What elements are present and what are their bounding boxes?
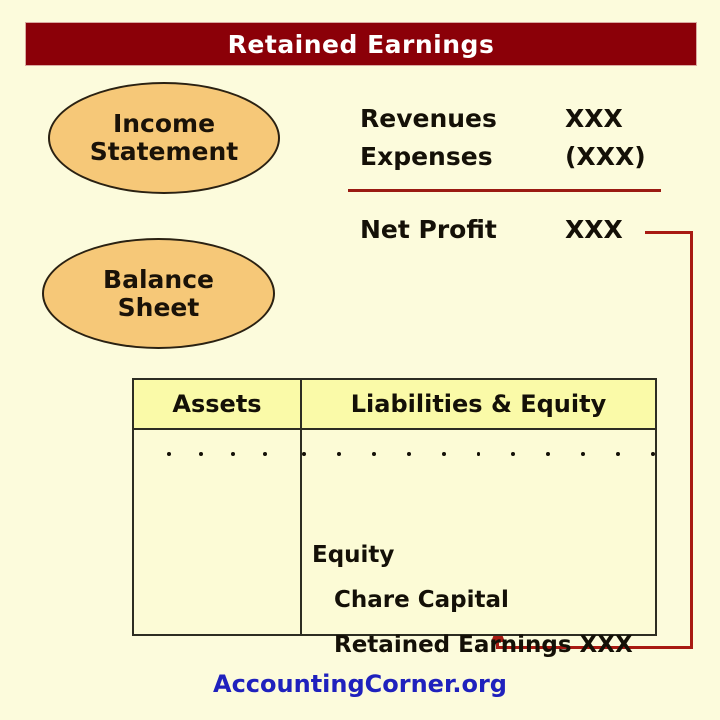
assets-placeholder-dots (134, 452, 300, 456)
retained-earnings-row: Retained Earnings XXX (312, 632, 651, 658)
revenues-label: Revenues (360, 104, 565, 133)
income-statement-figures: Revenues XXX Expenses (XXX) (360, 104, 680, 180)
table-cell-assets (134, 430, 302, 634)
connector-segment-right (690, 231, 693, 649)
table-cell-liabilities-equity: Equity Chare Capital Retained Earnings X… (302, 430, 655, 634)
placeholder-dot (263, 452, 267, 456)
placeholder-dot (616, 452, 620, 456)
placeholder-dot (511, 452, 515, 456)
liabilities-equity-header-label: Liabilities & Equity (351, 390, 606, 418)
placeholder-dot (651, 452, 655, 456)
liabilities-placeholder-dots (302, 452, 655, 456)
placeholder-dot (337, 452, 341, 456)
table-body-row: Equity Chare Capital Retained Earnings X… (134, 430, 655, 634)
node-balance-sheet-line1: Balance (103, 266, 214, 294)
placeholder-dot (477, 452, 481, 456)
table-header-assets: Assets (134, 380, 302, 428)
placeholder-dot (442, 452, 446, 456)
placeholder-dot (372, 452, 376, 456)
placeholder-dot (581, 452, 585, 456)
placeholder-dot (546, 452, 550, 456)
expenses-label: Expenses (360, 142, 565, 171)
placeholder-dot (167, 452, 171, 456)
balance-sheet-table: Assets Liabilities & Equity Equity Chare… (132, 378, 657, 636)
connector-segment-top (645, 231, 693, 234)
page-title: Retained Earnings (228, 30, 495, 59)
node-balance-sheet-line2: Sheet (118, 294, 200, 322)
placeholder-dot (407, 452, 411, 456)
diagram-canvas: Retained Earnings Income Statement Balan… (0, 0, 720, 720)
net-profit-amount: XXX (565, 215, 623, 244)
equity-section: Equity Chare Capital Retained Earnings X… (312, 542, 651, 677)
node-income-statement: Income Statement (48, 82, 280, 194)
table-header-row: Assets Liabilities & Equity (134, 380, 655, 430)
placeholder-dot (199, 452, 203, 456)
expenses-amount: (XXX) (565, 142, 646, 171)
revenues-amount: XXX (565, 104, 623, 133)
title-banner: Retained Earnings (25, 22, 697, 66)
net-profit-label: Net Profit (360, 215, 565, 244)
income-statement-row: Revenues XXX (360, 104, 680, 142)
footer: AccountingCorner.org (0, 670, 720, 698)
income-statement-row: Expenses (XXX) (360, 142, 680, 180)
node-balance-sheet: Balance Sheet (42, 238, 275, 349)
equity-heading: Equity (312, 542, 651, 568)
placeholder-dot (302, 452, 306, 456)
income-statement-subtotal-rule (348, 189, 661, 192)
assets-header-label: Assets (172, 390, 261, 418)
node-income-statement-line1: Income (113, 110, 215, 138)
site-credit: AccountingCorner.org (213, 670, 507, 698)
net-profit-row: Net Profit XXX (360, 215, 623, 244)
node-income-statement-line2: Statement (90, 138, 239, 166)
table-header-liabilities-equity: Liabilities & Equity (302, 380, 655, 428)
share-capital-row: Chare Capital (312, 587, 651, 613)
placeholder-dot (231, 452, 235, 456)
